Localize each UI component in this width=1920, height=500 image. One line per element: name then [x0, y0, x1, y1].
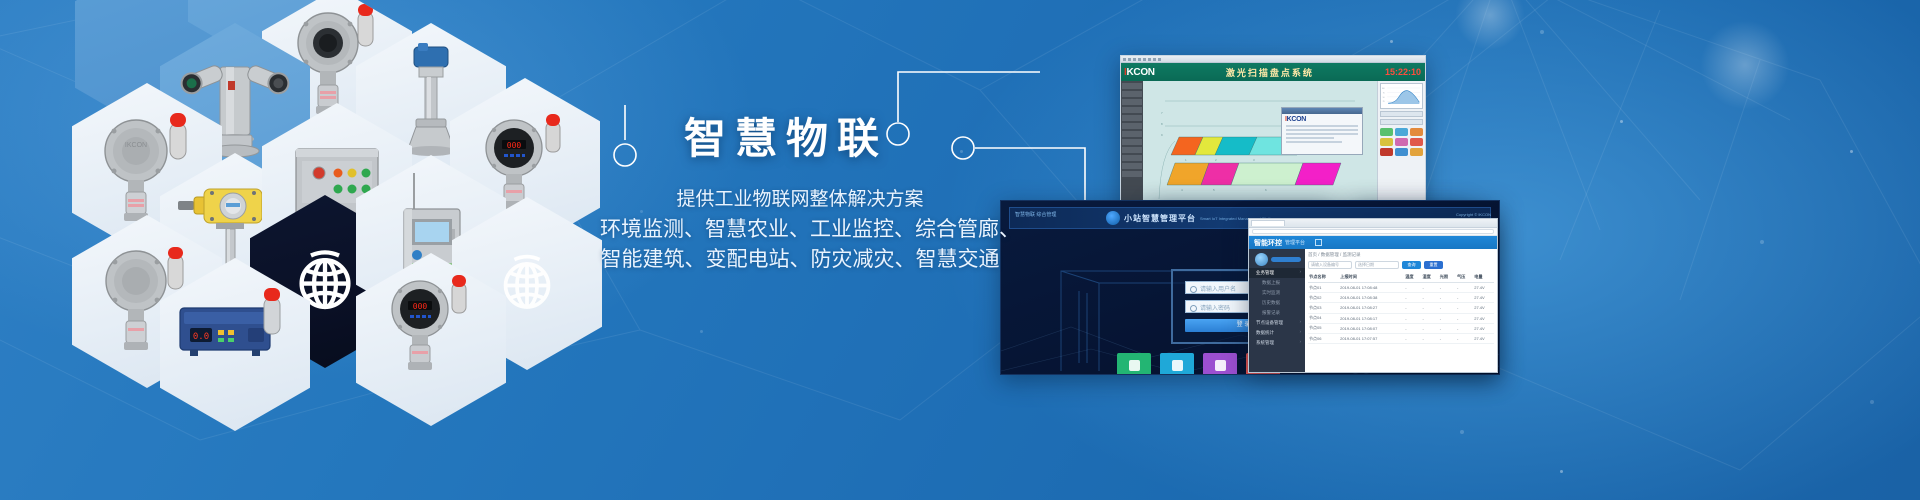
sidebar-item-report[interactable]: 数据上报 [1249, 278, 1305, 288]
cell-hum: - [1421, 283, 1438, 293]
cell-temp: - [1404, 323, 1421, 333]
page-title: 智慧物联 [684, 118, 888, 160]
cell-temp: - [1404, 313, 1421, 323]
clock-display: 15:22:10 [1385, 67, 1425, 77]
query-button[interactable]: 查询 [1402, 261, 1421, 269]
svg-text:5: 5 [1213, 188, 1215, 192]
dashboard-right-note: Copyright © IKCON [1456, 212, 1491, 217]
sidebar-item-devices[interactable]: 节点设备管理 [1249, 318, 1305, 328]
bell-icon [1215, 360, 1226, 371]
cell-light: - [1439, 313, 1456, 323]
table-row[interactable]: 节点04 2019-08-01 17:08:17 - - - - 27.4V [1308, 313, 1494, 323]
about-logo: IKCON [1282, 114, 1362, 123]
cell-time: 2019-08-01 17:08:17 [1339, 313, 1404, 323]
product-screenshots: IKCON 激光扫描盘点系统 15:22:10 [1000, 0, 1920, 500]
app-header: IKCON 激光扫描盘点系统 15:22:10 [1121, 63, 1425, 81]
cell-node: 节点04 [1308, 313, 1339, 323]
svg-text:9: 9 [1161, 133, 1163, 137]
ikcon-logo: IKCON [1121, 67, 1155, 78]
app-name-sub: 管理平台 [1282, 239, 1305, 246]
panel-button[interactable] [1380, 111, 1423, 117]
left-nav[interactable] [1121, 81, 1143, 215]
table-header-row: 节点名称 上报时间 温度 湿度 光照 气压 电量 [1308, 272, 1494, 283]
cell-time: 2019-08-01 17:07:57 [1339, 333, 1404, 343]
svg-text:75: 75 [1383, 92, 1385, 94]
subtitle-line-3: 智能建筑、变配电站、防灾减灾、智慧交通 [600, 245, 1000, 275]
iot-hero-banner: 000 [0, 0, 1920, 500]
cell-node: 节点03 [1308, 303, 1339, 313]
menu-toggle-icon[interactable] [1315, 239, 1322, 246]
url-input[interactable] [1252, 229, 1494, 234]
svg-text:6: 6 [1265, 188, 1267, 192]
cell-temp: - [1404, 293, 1421, 303]
hero-text-block: 智慧物联 提供工业物联网整体解决方案 环境监测、智慧农业、工业监控、综合管廊、 … [600, 0, 1020, 500]
sidebar-item-system[interactable]: 系统管理 [1249, 338, 1305, 348]
cell-press: - [1456, 323, 1473, 333]
env-control-browser[interactable]: 智能环控 管理平台 业务管理 数据上报 实时监测 历史数据 报警记录 节点设备管… [1248, 218, 1498, 373]
svg-text:2: 2 [1215, 158, 1217, 162]
dashboard-title: 小站智慧管理平台 [1124, 213, 1196, 224]
subtitle-line-2: 环境监测、智慧农业、工业监控、综合管廊、 [600, 215, 1000, 245]
sidebar-item-history[interactable]: 历史数据 [1249, 298, 1305, 308]
svg-text:100: 100 [1382, 88, 1385, 90]
sidebar-nav[interactable]: 业务管理 数据上报 实时监测 历史数据 报警记录 节点设备管理 数据统计 系统管… [1249, 249, 1305, 373]
cell-time: 2019-08-01 17:08:07 [1339, 323, 1404, 333]
env-chart-svg: 100755025 [1381, 84, 1422, 108]
browser-tabstrip[interactable] [1249, 219, 1497, 228]
cell-press: - [1456, 283, 1473, 293]
env-chart: 100755025 [1380, 83, 1423, 109]
avatar [1255, 253, 1268, 266]
cell-press: - [1456, 303, 1473, 313]
right-panel[interactable]: 100755025 [1377, 81, 1425, 215]
cell-hum: - [1421, 313, 1438, 323]
cell-temp: - [1404, 283, 1421, 293]
cell-node: 节点02 [1308, 293, 1339, 303]
cell-time: 2019-08-01 17:08:38 [1339, 293, 1404, 303]
cell-press: - [1456, 333, 1473, 343]
cell-hum: - [1421, 323, 1438, 333]
browser-tab[interactable] [1251, 220, 1285, 226]
window-titlebar [1121, 56, 1425, 63]
sidebar-item-stats[interactable]: 数据统计 [1249, 328, 1305, 338]
cell-batt: 27.4V [1473, 283, 1494, 293]
cell-time: 2019-08-01 17:08:48 [1339, 283, 1404, 293]
search-input[interactable]: 请输入设备编号 [1308, 261, 1352, 269]
scan-canvas[interactable]: 987 123 456 盘点区 A 通道 1 盘点区 B 盘点区 C IKCON [1143, 81, 1377, 215]
sidebar-item-realtime[interactable]: 实时监测 [1249, 288, 1305, 298]
col-batt: 电量 [1473, 272, 1494, 283]
cell-batt: 27.4V [1473, 293, 1494, 303]
laser-window-title: 激光扫描盘点系统 [1155, 66, 1385, 79]
svg-text:8: 8 [1161, 122, 1163, 126]
cell-light: - [1439, 293, 1456, 303]
cell-node: 节点05 [1308, 323, 1339, 333]
panel-button[interactable] [1380, 119, 1423, 125]
table-row[interactable]: 节点06 2019-08-01 17:07:57 - - - - 27.4V [1308, 333, 1494, 343]
cell-hum: - [1421, 333, 1438, 343]
col-hum: 湿度 [1421, 272, 1438, 283]
cell-time: 2019-08-01 17:08:27 [1339, 303, 1404, 313]
cell-node: 节点06 [1308, 333, 1339, 343]
table-row[interactable]: 节点03 2019-08-01 17:08:27 - - - - 27.4V [1308, 303, 1494, 313]
subtitle-line-1: 提供工业物联网整体解决方案 [600, 185, 1000, 215]
about-dialog[interactable]: IKCON [1281, 107, 1363, 155]
app-topbar: 智能环控 管理平台 [1249, 236, 1497, 249]
table-row[interactable]: 节点02 2019-08-01 17:08:38 - - - - 27.4V [1308, 293, 1494, 303]
table-row[interactable]: 节点01 2019-08-01 17:08:48 - - - - 27.4V [1308, 283, 1494, 293]
content-area: 首页 / 数据管理 / 监测记录 请输入设备编号 选择日期 查询 重置 节点名称… [1305, 249, 1497, 373]
cell-hum: - [1421, 293, 1438, 303]
svg-text:1: 1 [1185, 158, 1187, 162]
col-light: 光照 [1439, 272, 1456, 283]
svg-text:25: 25 [1383, 101, 1385, 103]
col-time: 上报时间 [1339, 272, 1404, 283]
app-tile[interactable]: 报警管理系统 [1203, 353, 1237, 375]
cell-batt: 27.4V [1473, 303, 1494, 313]
filter-bar[interactable]: 请输入设备编号 选择日期 查询 重置 [1308, 261, 1494, 269]
data-table: 节点名称 上报时间 温度 湿度 光照 气压 电量 节点01 2019-08-01… [1308, 272, 1494, 344]
browser-urlbar[interactable] [1249, 228, 1497, 236]
svg-text:7: 7 [1161, 111, 1163, 115]
cell-press: - [1456, 313, 1473, 323]
platform-logo-icon [1106, 211, 1120, 225]
cell-light: - [1439, 333, 1456, 343]
breadcrumb: 首页 / 数据管理 / 监测记录 [1308, 252, 1494, 258]
date-input[interactable]: 选择日期 [1355, 261, 1399, 269]
app-name: 智能环控 [1249, 238, 1282, 248]
table-row[interactable]: 节点05 2019-08-01 17:08:07 - - - - 27.4V [1308, 323, 1494, 333]
col-press: 气压 [1456, 272, 1473, 283]
cell-temp: - [1404, 303, 1421, 313]
action-icon-grid[interactable] [1380, 128, 1423, 156]
cell-press: - [1456, 293, 1473, 303]
laser-scan-window[interactable]: IKCON 激光扫描盘点系统 15:22:10 [1120, 55, 1426, 215]
col-node: 节点名称 [1308, 272, 1339, 283]
cell-light: - [1439, 323, 1456, 333]
cell-batt: 27.4V [1473, 323, 1494, 333]
sidebar-item-alarm[interactable]: 报警记录 [1249, 308, 1305, 318]
app-tile[interactable]: 视频监控系统 [1160, 353, 1194, 375]
svg-text:3: 3 [1253, 158, 1255, 162]
svg-text:4: 4 [1181, 188, 1183, 192]
app-tile[interactable]: 环境监测系统 [1117, 353, 1151, 375]
reset-button[interactable]: 重置 [1424, 261, 1443, 269]
cell-hum: - [1421, 303, 1438, 313]
cell-node: 节点01 [1308, 283, 1339, 293]
svg-text:50: 50 [1383, 97, 1385, 99]
cell-light: - [1439, 303, 1456, 313]
dashboard-left-note: 智慧物联 综合管理 [1015, 211, 1056, 218]
cell-temp: - [1404, 333, 1421, 343]
hero-subtitle: 提供工业物联网整体解决方案 环境监测、智慧农业、工业监控、综合管廊、 智能建筑、… [600, 185, 1000, 275]
user-role-badge [1271, 257, 1301, 262]
camera-icon [1172, 360, 1183, 371]
cell-light: - [1439, 283, 1456, 293]
sidebar-item-business[interactable]: 业务管理 [1249, 268, 1305, 278]
cell-batt: 27.4V [1473, 313, 1494, 323]
cell-batt: 27.4V [1473, 333, 1494, 343]
monitor-icon [1129, 360, 1140, 371]
col-temp: 温度 [1404, 272, 1421, 283]
